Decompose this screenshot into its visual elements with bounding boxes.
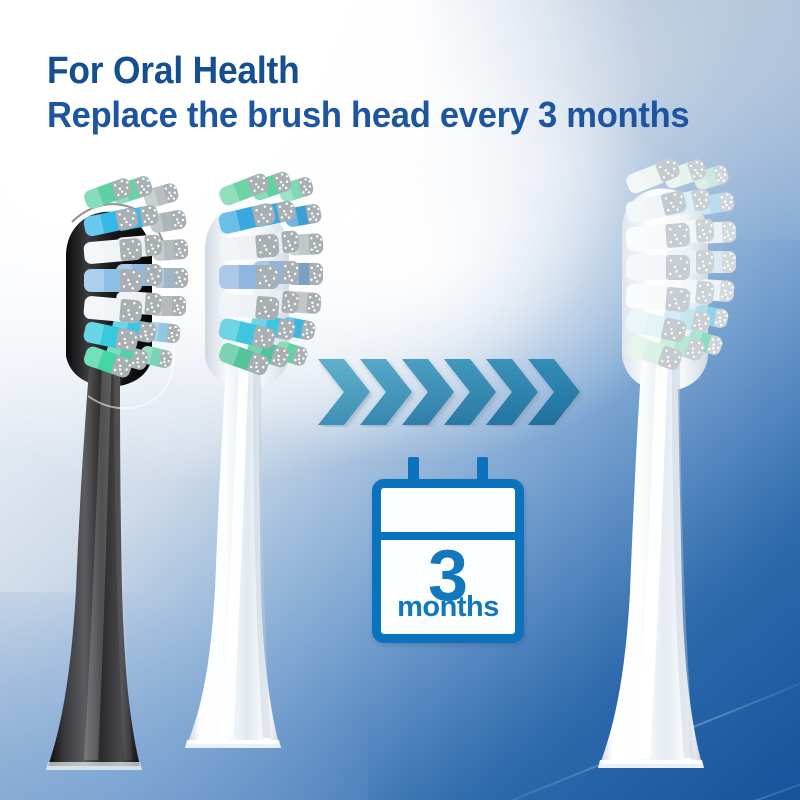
bristle-tuft [626, 255, 690, 280]
bristle-tuft [83, 296, 143, 324]
bristle-tuft [84, 269, 142, 292]
calendar-icon: 3 months [372, 457, 524, 643]
calendar-body: 3 months [372, 479, 524, 643]
product-white-brush-head [175, 158, 355, 758]
product-marketing-image: For Oral Health Replace the brush head e… [0, 0, 800, 800]
headline-primary: For Oral Health [47, 52, 726, 91]
chevron-right-icon [318, 357, 586, 427]
headline-secondary: Replace the brush head every 3 months [47, 96, 748, 134]
replacement-arrow-group [318, 357, 586, 427]
calendar-month-label: months [381, 591, 515, 624]
headline-block: For Oral Health Replace the brush head e… [47, 52, 777, 134]
bristle-tuft [219, 265, 279, 289]
product-new-brush-head [578, 150, 768, 790]
